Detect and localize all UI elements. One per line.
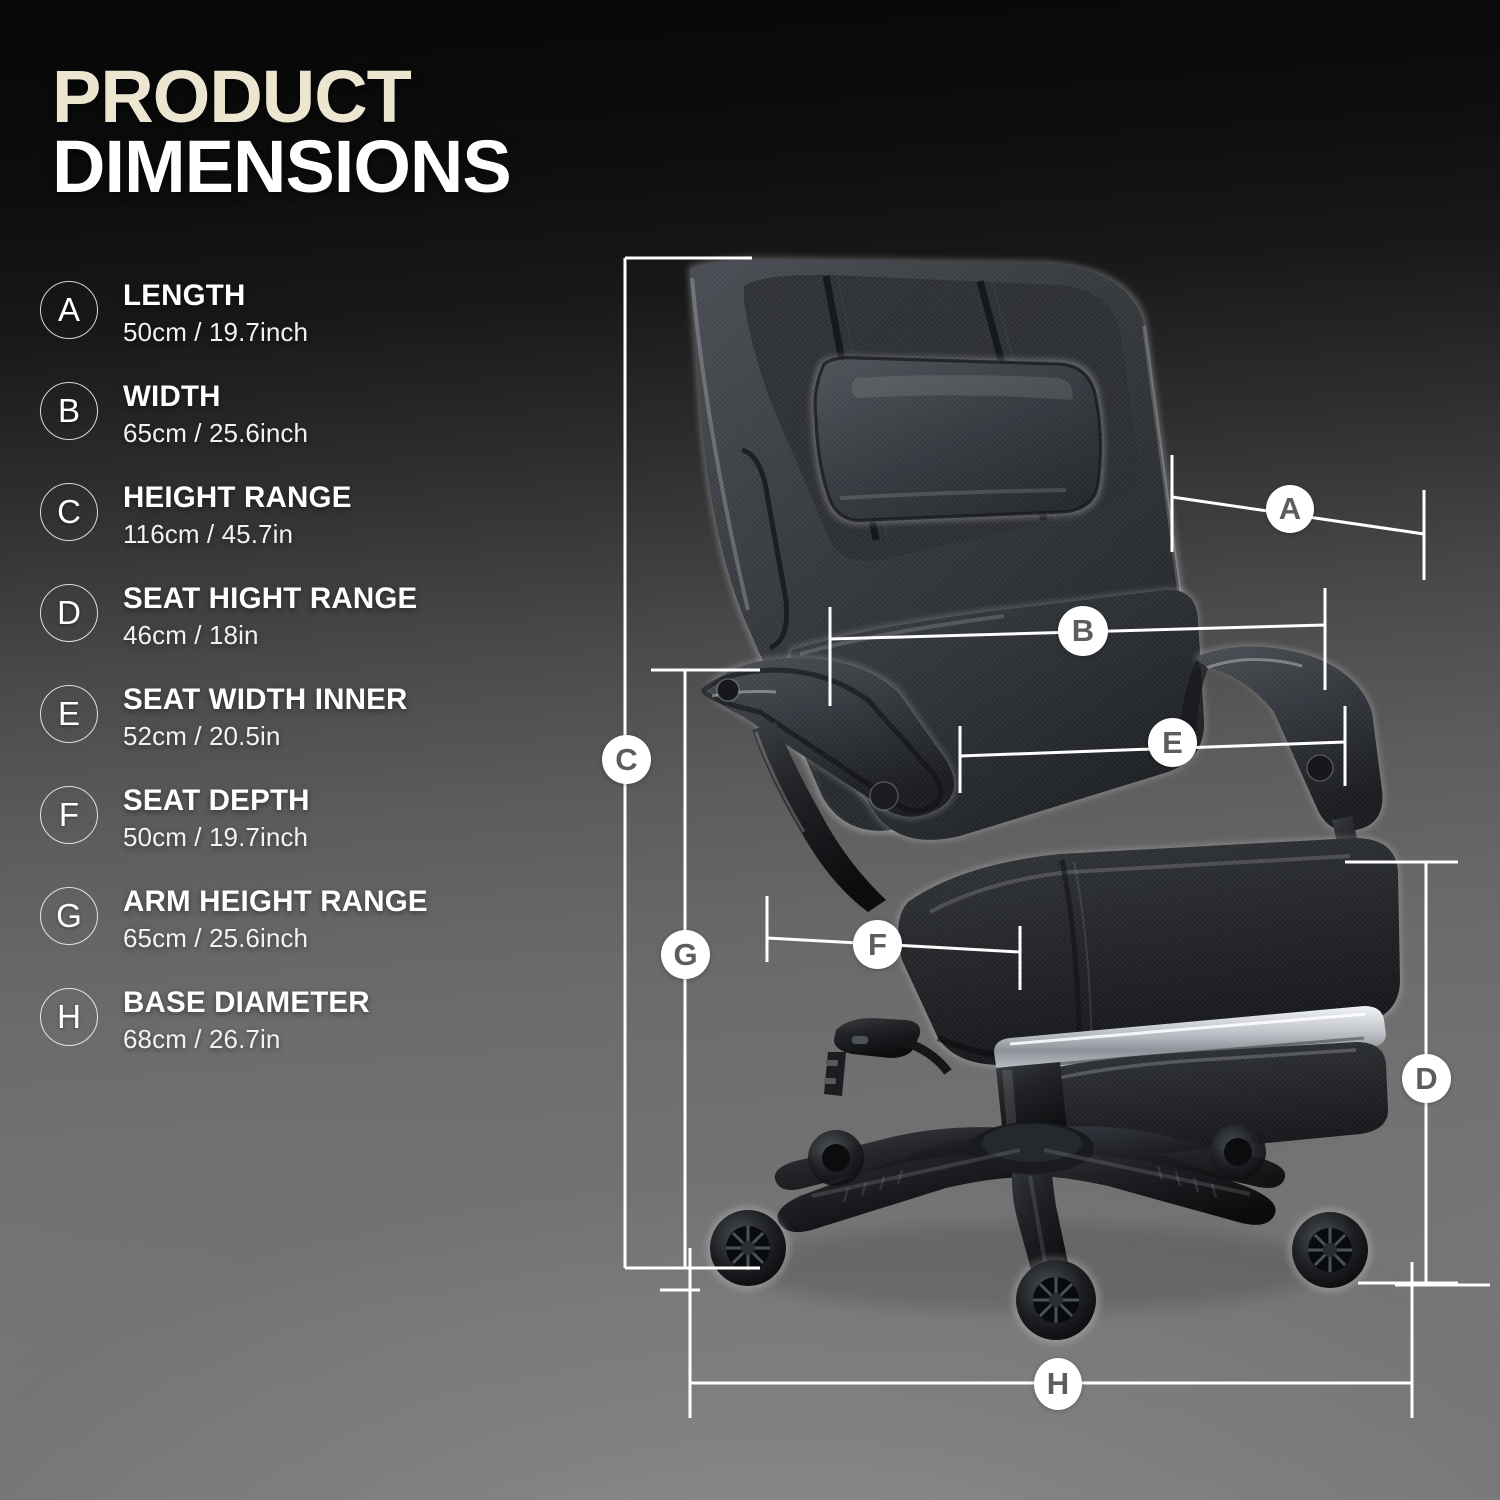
legend-label-g: ARM HEIGHT RANGE	[123, 886, 428, 918]
legend-badge-a: A	[40, 281, 98, 339]
legend-badge-b: B	[40, 382, 98, 440]
legend-text-h: BASE DIAMETER68cm / 26.7in	[123, 986, 370, 1055]
marker-e: E	[1148, 718, 1197, 767]
legend-badge-d: D	[40, 584, 98, 642]
legend-badge-h: H	[40, 988, 98, 1046]
legend-item-b: BWIDTH65cm / 25.6inch	[40, 380, 580, 481]
marker-b: B	[1058, 606, 1108, 656]
legend-value-g: 65cm / 25.6inch	[123, 923, 428, 954]
legend-item-h: HBASE DIAMETER68cm / 26.7in	[40, 986, 580, 1087]
legend-badge-e: E	[40, 685, 98, 743]
legend-badge-f: F	[40, 786, 98, 844]
legend-value-c: 116cm / 45.7in	[123, 519, 352, 550]
legend-value-f: 50cm / 19.7inch	[123, 822, 310, 853]
legend-item-d: DSEAT HIGHT RANGE46cm / 18in	[40, 582, 580, 683]
legend-value-e: 52cm / 20.5in	[123, 721, 408, 752]
dimension-legend: ALENGTH50cm / 19.7inchBWIDTH65cm / 25.6i…	[40, 279, 580, 1087]
marker-g: G	[661, 930, 710, 979]
legend-item-g: GARM HEIGHT RANGE65cm / 25.6inch	[40, 885, 580, 986]
legend-label-e: SEAT WIDTH INNER	[123, 684, 408, 716]
legend-text-g: ARM HEIGHT RANGE65cm / 25.6inch	[123, 885, 428, 954]
legend-text-b: WIDTH65cm / 25.6inch	[123, 380, 308, 449]
legend-item-e: ESEAT WIDTH INNER52cm / 20.5in	[40, 683, 580, 784]
legend-text-d: SEAT HIGHT RANGE46cm / 18in	[123, 582, 417, 651]
marker-a: A	[1266, 485, 1314, 533]
legend-text-c: HEIGHT RANGE116cm / 45.7in	[123, 481, 352, 550]
infographic-canvas: PRODUCT DIMENSIONS	[0, 0, 1500, 1500]
marker-d: D	[1402, 1054, 1451, 1103]
legend-label-c: HEIGHT RANGE	[123, 482, 352, 514]
legend-text-a: LENGTH50cm / 19.7inch	[123, 279, 308, 348]
marker-c: C	[602, 735, 651, 784]
legend-value-b: 65cm / 25.6inch	[123, 418, 308, 449]
marker-f: F	[853, 920, 902, 969]
legend-label-b: WIDTH	[123, 381, 308, 413]
legend-label-a: LENGTH	[123, 280, 308, 312]
legend-text-e: SEAT WIDTH INNER52cm / 20.5in	[123, 683, 408, 752]
marker-h: H	[1034, 1358, 1082, 1410]
legend-label-f: SEAT DEPTH	[123, 785, 310, 817]
tilt-controls	[824, 1018, 948, 1096]
legend-value-a: 50cm / 19.7inch	[123, 317, 308, 348]
legend-value-d: 46cm / 18in	[123, 620, 417, 651]
legend-item-f: FSEAT DEPTH50cm / 19.7inch	[40, 784, 580, 885]
legend-text-f: SEAT DEPTH50cm / 19.7inch	[123, 784, 310, 853]
legend-item-a: ALENGTH50cm / 19.7inch	[40, 279, 580, 380]
legend-label-h: BASE DIAMETER	[123, 987, 370, 1019]
legend-badge-g: G	[40, 887, 98, 945]
legend-label-d: SEAT HIGHT RANGE	[123, 583, 417, 615]
legend-value-h: 68cm / 26.7in	[123, 1024, 370, 1055]
legend-badge-c: C	[40, 483, 98, 541]
headrest-pillow	[811, 356, 1105, 525]
legend-item-c: CHEIGHT RANGE116cm / 45.7in	[40, 481, 580, 582]
